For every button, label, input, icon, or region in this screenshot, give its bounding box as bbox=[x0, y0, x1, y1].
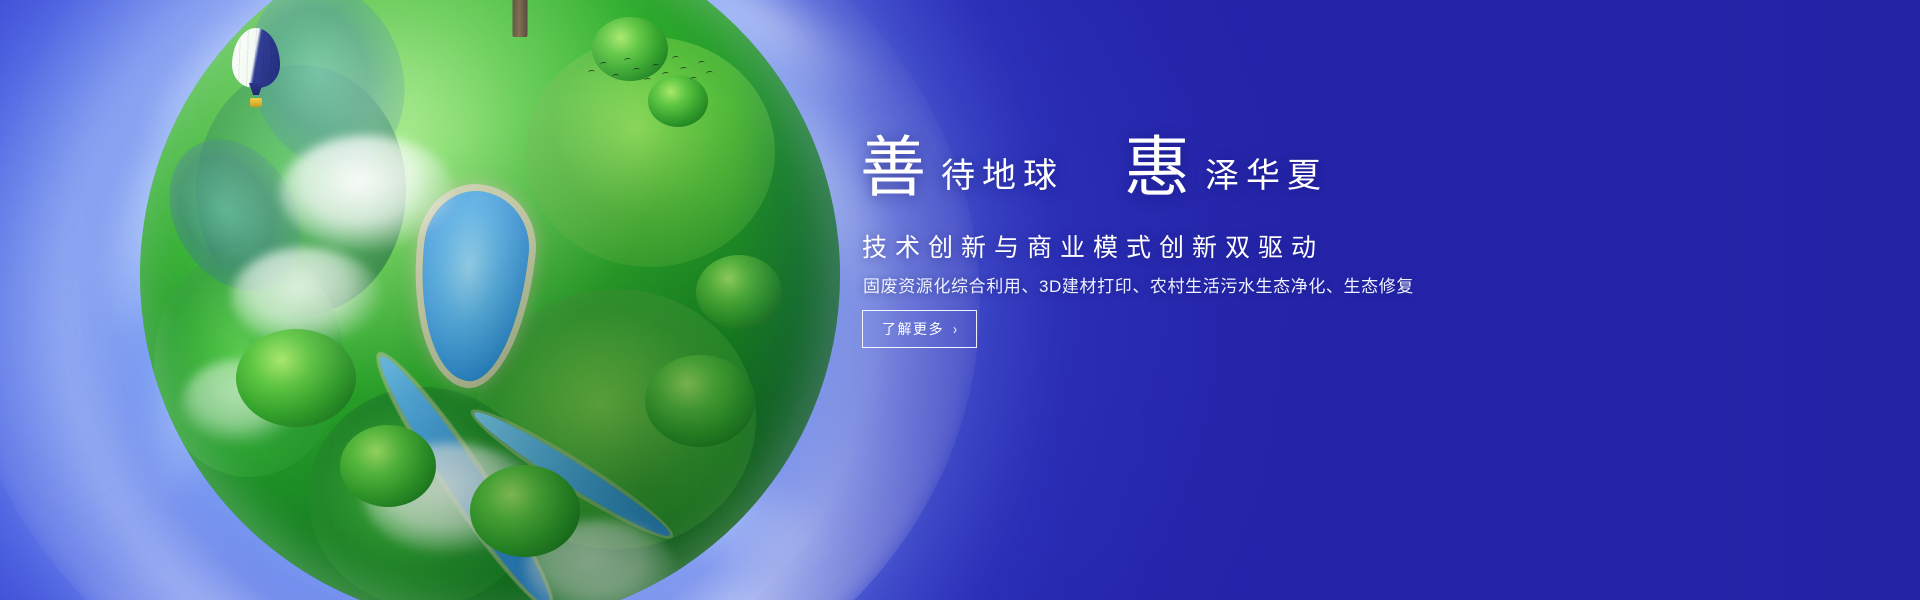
bird-icon bbox=[600, 62, 608, 68]
chevron-right-icon: › bbox=[953, 322, 957, 337]
bird-icon bbox=[612, 74, 620, 80]
hero-tagline: 固废资源化综合利用、3D建材打印、农村生活污水生态净化、生态修复 bbox=[863, 272, 1414, 297]
birds-flock bbox=[586, 52, 716, 94]
bird-icon bbox=[698, 61, 706, 67]
bird-icon bbox=[672, 56, 680, 62]
bird-icon bbox=[644, 78, 652, 84]
hero-content: 善 待地球 惠 泽华夏 技术创新与商业模式创新双驱动 固废资源化综合利用、3D建… bbox=[860, 0, 1860, 600]
bird-icon bbox=[652, 64, 660, 70]
balloon-basket bbox=[250, 98, 262, 107]
bird-icon bbox=[624, 58, 632, 64]
headline-text-zehuaxia: 泽华夏 bbox=[1191, 160, 1328, 204]
bird-icon bbox=[633, 68, 641, 74]
hot-air-balloon-icon bbox=[232, 28, 280, 112]
bird-icon bbox=[690, 77, 698, 83]
headline-text-daidiqiu: 待地球 bbox=[927, 160, 1064, 204]
balloon-neck bbox=[249, 83, 263, 95]
headline-char-shan: 善 bbox=[860, 136, 927, 204]
hero-headline: 善 待地球 惠 泽华夏 bbox=[860, 136, 1328, 204]
learn-more-button[interactable]: 了解更多 › bbox=[862, 310, 977, 348]
bird-icon bbox=[706, 71, 714, 77]
balloon-envelope bbox=[232, 28, 280, 88]
hero-subtitle: 技术创新与商业模式创新双驱动 bbox=[862, 228, 1324, 264]
hero-banner: 善 待地球 惠 泽华夏 技术创新与商业模式创新双驱动 固废资源化综合利用、3D建… bbox=[0, 0, 1920, 600]
bird-icon bbox=[680, 67, 688, 73]
bird-icon bbox=[662, 72, 670, 78]
headline-char-hui: 惠 bbox=[1124, 136, 1191, 204]
learn-more-label: 了解更多 bbox=[882, 319, 944, 339]
bird-icon bbox=[588, 70, 596, 76]
